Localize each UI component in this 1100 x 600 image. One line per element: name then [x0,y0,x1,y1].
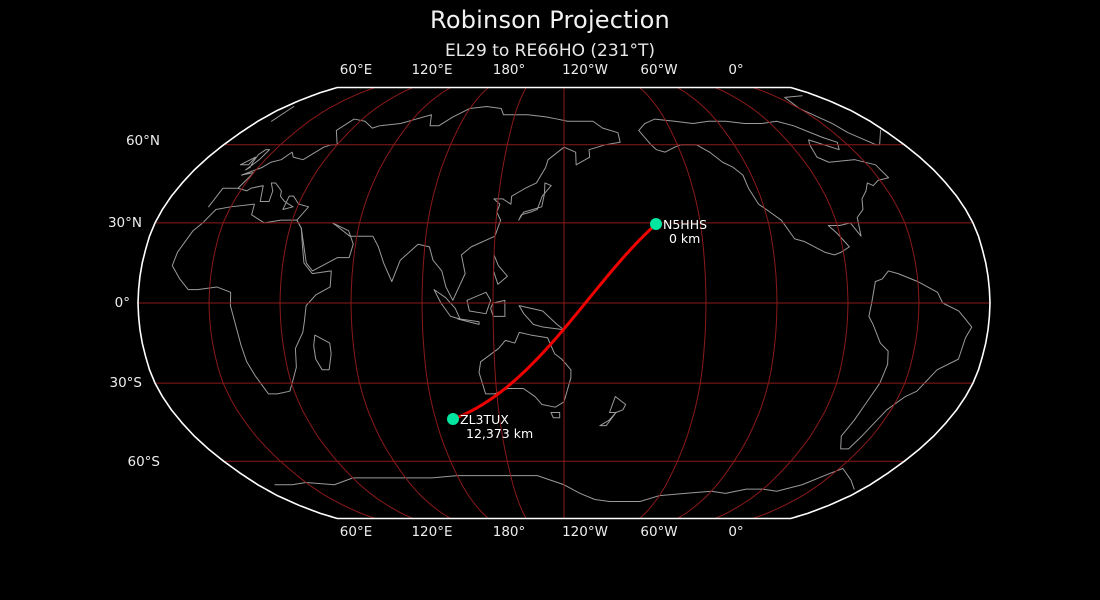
latitude-tick-label: 0° [20,295,130,311]
coastline-segment [493,255,507,284]
coastline-segment [519,306,564,330]
longitude-tick-label: 120°E [411,524,452,540]
coastline-segment [610,397,626,413]
longitude-tick-label: 0° [728,524,743,540]
latitude-tick-label: 60°S [50,454,160,470]
longitude-tick-label: 0° [728,62,743,78]
longitude-tick-label: 120°W [562,524,608,540]
coastline-segment [876,130,881,144]
coastline-segment [519,183,551,220]
coastline-segment [314,335,331,370]
robinson-map-canvas [0,0,1100,600]
coastline-segment [841,271,972,449]
coastline-segment [600,412,616,425]
longitude-tick-label: 60°W [640,524,677,540]
longitude-tick-label: 180° [493,62,526,78]
latitude-tick-label: 60°N [50,133,160,149]
station-marker-n5hhs[interactable] [650,218,662,230]
station-label-zl3tux: ZL3TUX12,373 km [460,413,533,441]
coastline-segment [458,319,479,324]
coastline-segment [246,150,270,170]
longitude-tick-label: 60°W [640,62,677,78]
station-distance: 12,373 km [460,427,533,441]
longitude-tick-label: 120°E [411,62,452,78]
station-label-n5hhs: N5HHS0 km [663,218,707,246]
station-marker-zl3tux[interactable] [447,413,459,425]
longitude-tick-label: 60°E [340,524,372,540]
latitude-tick-label: 30°S [32,375,142,391]
longitude-tick-label: 60°E [340,62,372,78]
longitude-tick-label: 180° [493,524,526,540]
coastline-segment [275,476,610,502]
map-figure: Robinson Projection EL29 to RE66HO (231°… [0,0,1100,600]
longitude-tick-label: 120°W [562,62,608,78]
coastline-segment [172,204,331,394]
coastline-segment [551,412,560,417]
station-distance: 0 km [663,232,707,246]
graticule-layer [138,88,990,519]
latitude-tick-label: 30°N [32,215,142,231]
station-callsign: ZL3TUX [460,412,509,427]
coastline-segment [785,96,876,145]
coastline-segment [209,106,621,300]
coastlines-layer [172,96,972,502]
station-callsign: N5HHS [663,217,707,232]
coastline-segment [610,469,855,502]
